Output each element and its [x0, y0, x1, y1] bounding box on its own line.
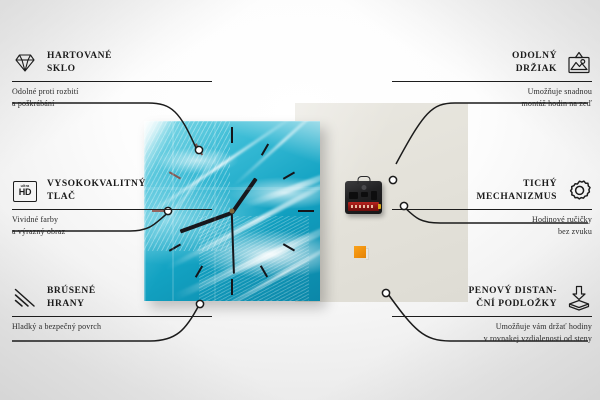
product-infographic: HARTOVANÉ SKLO Odolné proti rozbití a po… — [0, 0, 600, 400]
feature-title: TICHÝ MECHANIZMUS — [477, 178, 557, 203]
hd-badge-hd: HD — [19, 188, 32, 197]
clock-tick-12 — [231, 127, 233, 143]
feature-desc-line1: Hodinové ručičky — [532, 215, 592, 224]
feature-title: PENOVÝ DISTAN- ČNÍ PODLOŽKY — [468, 285, 557, 310]
feature-title-line2: TLAČ — [47, 192, 76, 202]
feature-desc-line2: a poškrábání — [12, 99, 54, 108]
feature-header: BRÚSENÉ HRANY — [12, 283, 212, 313]
mechanism-slot — [349, 192, 358, 199]
clock-center-hub — [230, 209, 235, 214]
clock-mechanism — [345, 181, 382, 214]
feature-description: Odolné proti rozbití a poškrábání — [12, 86, 212, 109]
battery — [348, 202, 379, 211]
feature-description: Vividné farby a výrazný obraz — [12, 214, 212, 237]
feature-desc-line2: bez zvuku — [558, 227, 592, 236]
ultra-hd-icon: ultra HD — [12, 178, 38, 204]
mechanism-slot — [361, 192, 368, 197]
foam-distance-pad — [354, 246, 369, 261]
feature-description: Umožňuje snadnou montáž hodin na zeď — [392, 86, 592, 109]
feature-title-line1: VYSOKOKVALITNÝ — [47, 179, 146, 189]
feature-foam-spacers: PENOVÝ DISTAN- ČNÍ PODLOŽKY Umožňuje vám… — [392, 283, 592, 345]
feature-hardened-glass: HARTOVANÉ SKLO Odolné proti rozbití a po… — [12, 48, 212, 110]
feature-desc-line1: Umožňuje vám držať hodiny — [496, 322, 592, 331]
feature-header: HARTOVANÉ SKLO — [12, 48, 212, 78]
feature-title: ODOLNÝ DRŽIAK — [512, 50, 557, 75]
foam-pad-icon — [566, 285, 592, 311]
feature-header: ODOLNÝ DRŽIAK — [392, 48, 592, 78]
diamond-icon — [12, 50, 38, 76]
foam-pad-top — [354, 246, 366, 258]
feature-divider — [392, 81, 592, 82]
foam-pad-side — [366, 248, 369, 260]
clock-tick-6 — [231, 279, 233, 295]
feature-header: ultra HD VYSOKOKVALITNÝ TLAČ — [12, 176, 212, 206]
feature-desc-line2: a výrazný obraz — [12, 227, 65, 236]
feature-divider — [392, 209, 592, 210]
feature-desc-line1: Hladký a bezpečný povrch — [12, 322, 101, 331]
clock-tick-3 — [298, 210, 314, 212]
feature-title: VYSOKOKVALITNÝ TLAČ — [47, 178, 146, 203]
feature-title-line1: HARTOVANÉ — [47, 51, 112, 61]
feature-divider — [12, 81, 212, 82]
feature-header: TICHÝ MECHANIZMUS — [392, 176, 592, 206]
feature-description: Hladký a bezpečný povrch — [12, 321, 212, 333]
feature-title-line2: HRANY — [47, 299, 85, 309]
feature-header: PENOVÝ DISTAN- ČNÍ PODLOŽKY — [392, 283, 592, 313]
mechanism-slot — [371, 191, 377, 200]
feature-desc-line1: Umožňuje snadnou — [528, 87, 592, 96]
feature-title-line1: ODOLNÝ — [512, 51, 557, 61]
feature-description: Hodinové ručičky bez zvuku — [392, 214, 592, 237]
feature-divider — [392, 316, 592, 317]
feature-title: HARTOVANÉ SKLO — [47, 50, 112, 75]
feature-silent-mechanism: TICHÝ MECHANIZMUS Hodinové ručičky bez z… — [392, 176, 592, 238]
feature-title-line2: ČNÍ PODLOŽKY — [476, 299, 557, 309]
feature-title-line2: MECHANIZMUS — [477, 192, 557, 202]
feature-high-quality-print: ultra HD VYSOKOKVALITNÝ TLAČ Vividné far… — [12, 176, 212, 238]
feature-desc-line1: Vividné farby — [12, 215, 58, 224]
hd-badge: ultra HD — [13, 181, 37, 202]
feature-desc-line2: v rovnakej vzdialenosti od steny — [484, 334, 592, 343]
feature-divider — [12, 316, 212, 317]
battery-label — [351, 205, 373, 208]
feature-title: BRÚSENÉ HRANY — [47, 285, 96, 310]
feature-title-line1: PENOVÝ DISTAN- — [468, 286, 557, 296]
picture-hanger-icon — [566, 50, 592, 76]
feature-desc-line1: Odolné proti rozbití — [12, 87, 79, 96]
mechanism-hook — [357, 176, 370, 184]
mechanism-shaft — [361, 185, 366, 190]
feature-durable-hanger: ODOLNÝ DRŽIAK Umožňuje snadnou montáž ho… — [392, 48, 592, 110]
feature-description: Umožňuje vám držať hodiny v rovnakej vzd… — [392, 321, 592, 344]
beveled-edge-icon — [12, 285, 38, 311]
gear-icon — [566, 178, 592, 204]
feature-beveled-edges: BRÚSENÉ HRANY Hladký a bezpečný povrch — [12, 283, 212, 333]
feature-title-line1: BRÚSENÉ — [47, 286, 96, 296]
feature-title-line2: SKLO — [47, 64, 76, 74]
feature-desc-line2: montáž hodin na zeď — [522, 99, 592, 108]
feature-title-line1: TICHÝ — [523, 179, 557, 189]
feature-title-line2: DRŽIAK — [516, 64, 557, 74]
feature-divider — [12, 209, 212, 210]
